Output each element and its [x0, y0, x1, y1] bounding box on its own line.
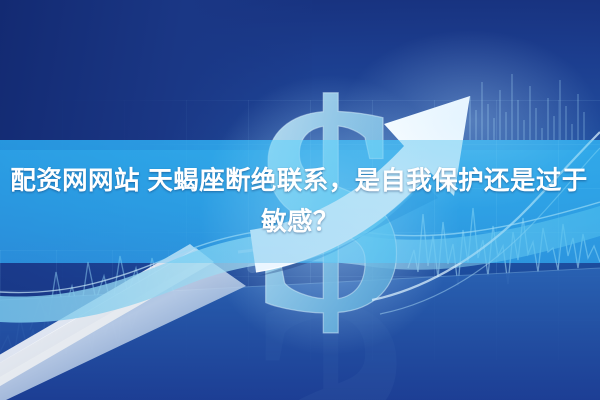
headline-line-1: 配资网网站 天蝎座断绝联系，是自我保护还是过于: [10, 161, 587, 202]
promo-banner: $ $ 配资网网站 天蝎座断绝联系，是自我保护还是过于 敏感？ 配资网网站 天蝎…: [0, 0, 600, 400]
headline-line-2: 敏感？: [261, 202, 339, 243]
headline-block: 配资网网站 天蝎座断绝联系，是自我保护还是过于 敏感？: [0, 140, 600, 263]
